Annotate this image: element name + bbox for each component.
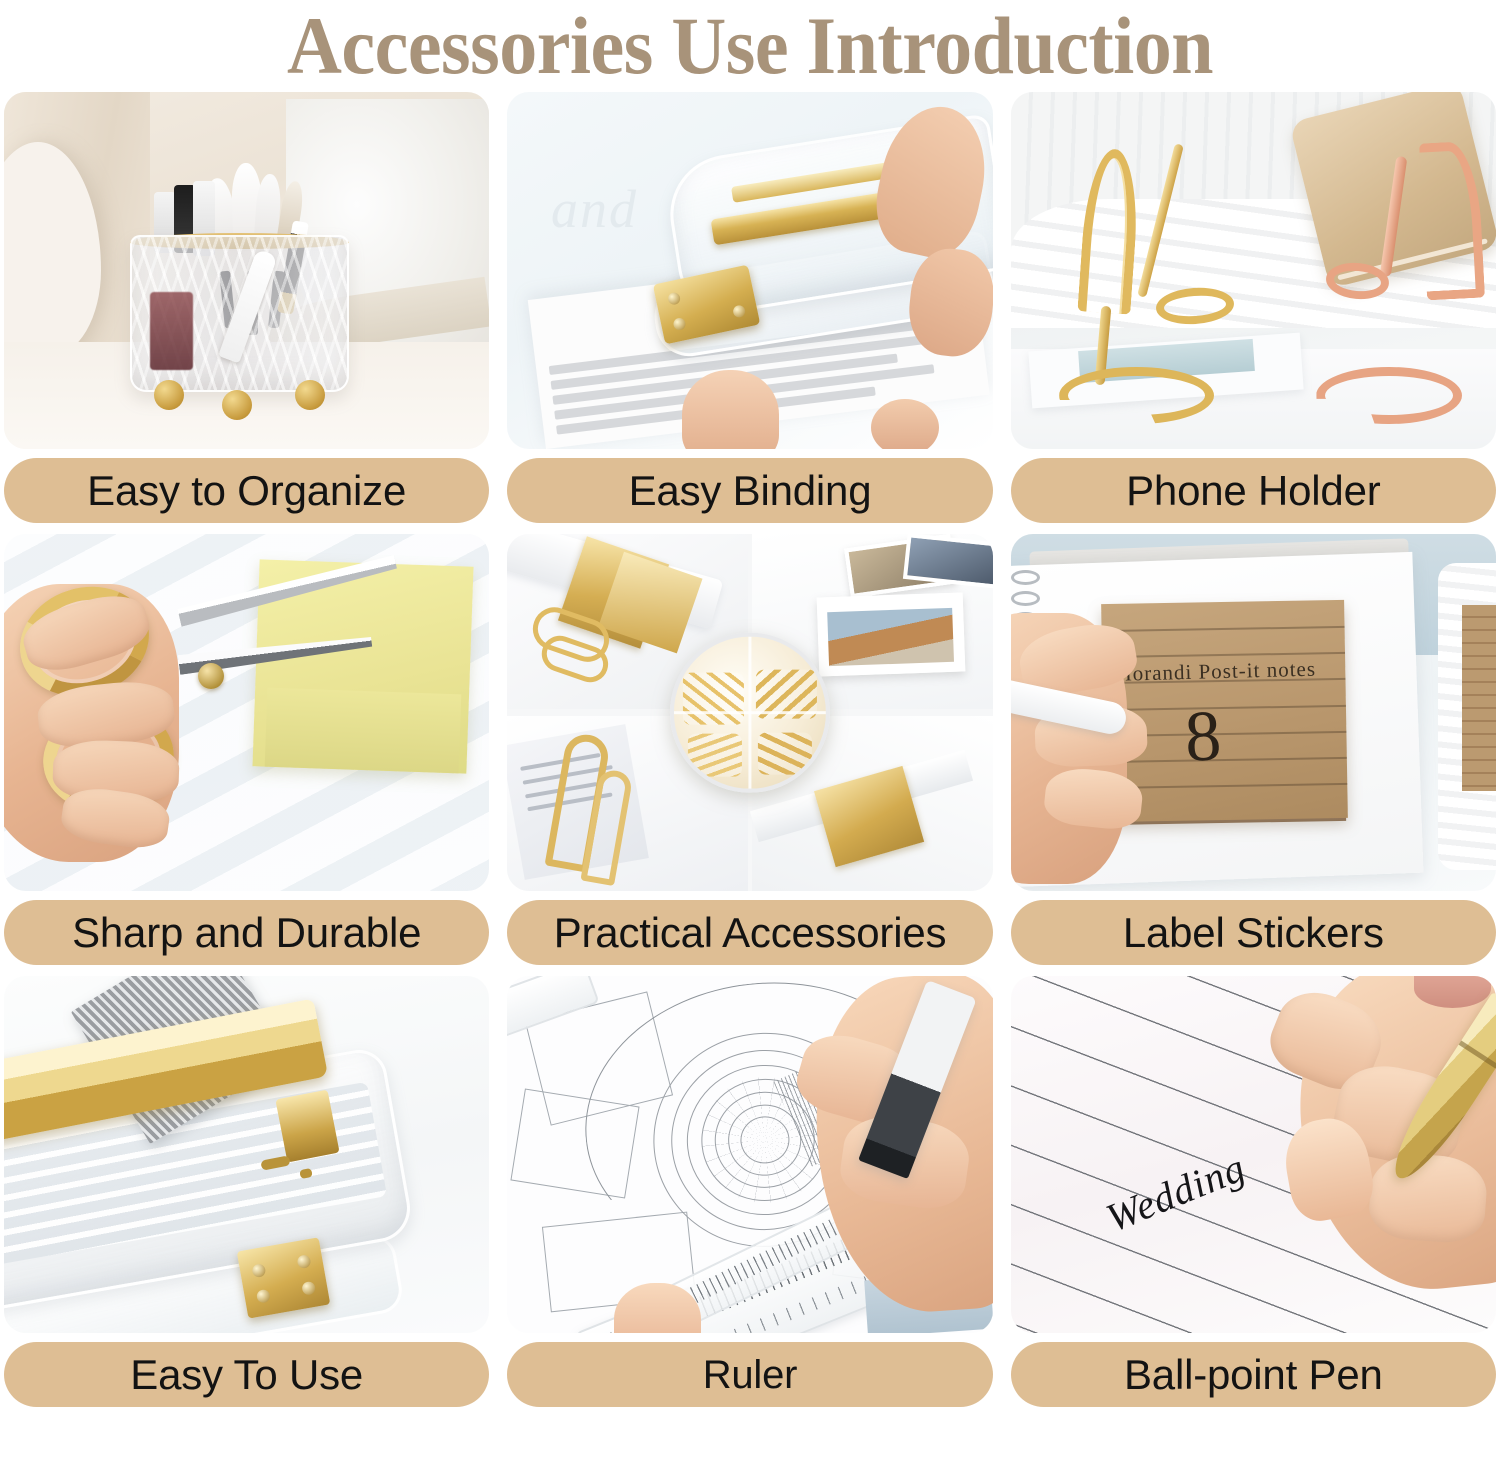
caption-sharp-and-durable: Sharp and Durable (4, 900, 489, 965)
open-stapler-staples-photo (4, 976, 489, 1333)
kraft-sticky-notes-photo: Morandi Post-it notes 8 (1011, 534, 1496, 891)
wire-phone-holder-photo (1011, 92, 1496, 449)
caption-label: Practical Accessories (554, 910, 947, 956)
infographic-page: Accessories Use Introduction (0, 0, 1500, 1472)
gold-clips-collage-photo (507, 534, 992, 891)
caption-easy-binding: Easy Binding (507, 458, 992, 523)
feature-grid: Easy to Organize and (0, 92, 1500, 1407)
feature-cell: Morandi Post-it notes 8 Label Stickers (1011, 534, 1496, 965)
feature-cell: Wedding Ball-point Pen (1011, 976, 1496, 1407)
feature-cell: Practical Accessories (507, 534, 992, 965)
caption-label: Easy to Organize (87, 468, 406, 514)
page-title: Accessories Use Introduction (287, 3, 1213, 89)
caption-label: Easy To Use (130, 1352, 363, 1398)
caption-label-stickers: Label Stickers (1011, 900, 1496, 965)
gold-scissors-photo (4, 534, 489, 891)
feature-cell: Sharp and Durable (4, 534, 489, 965)
caption-label: Label Stickers (1123, 910, 1384, 956)
gold-ballpoint-pen-photo: Wedding (1011, 976, 1496, 1333)
feature-cell: Easy to Organize (4, 92, 489, 523)
caption-label: Ball-point Pen (1124, 1352, 1383, 1398)
feature-cell: Easy To Use (4, 976, 489, 1407)
feature-cell: and Easy Binding (507, 92, 992, 523)
caption-label: Ruler (703, 1352, 798, 1398)
caption-easy-to-organize: Easy to Organize (4, 458, 489, 523)
caption-label: Sharp and Durable (72, 910, 421, 956)
caption-easy-to-use: Easy To Use (4, 1342, 489, 1407)
feature-cell: Ruler (507, 976, 992, 1407)
caption-ball-point-pen: Ball-point Pen (1011, 1342, 1496, 1407)
acrylic-gold-stapler-photo: and (507, 92, 992, 449)
ruler-technical-drawing-photo (507, 976, 992, 1333)
caption-phone-holder: Phone Holder (1011, 458, 1496, 523)
sticky-note-handwritten-number: 8 (1183, 694, 1223, 779)
caption-label: Easy Binding (629, 468, 872, 514)
feature-cell: Phone Holder (1011, 92, 1496, 523)
caption-practical-accessories: Practical Accessories (507, 900, 992, 965)
caption-ruler: Ruler (507, 1342, 992, 1407)
caption-label: Phone Holder (1126, 468, 1380, 514)
page-title-bar: Accessories Use Introduction (0, 0, 1500, 92)
cosmetics-brush-organizer-photo (4, 92, 489, 449)
